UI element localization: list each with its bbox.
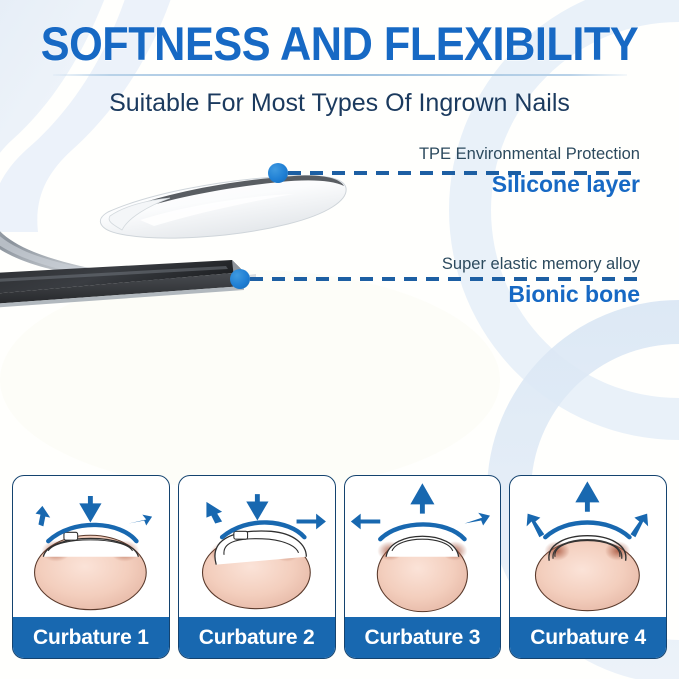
arrow-right-3 [464,513,489,526]
callout-silicone: TPE Environmental Protection Silicone la… [300,144,640,199]
curvature-panel-group: Curbature 1 [12,475,667,659]
callout-dot-bionic [230,269,250,289]
arrow-up-4 [580,486,596,511]
curvature-art-2 [179,476,335,617]
callout-bionic-top-label: Super elastic memory alloy [260,254,640,274]
curvature-label-3: Curbature 3 [345,617,501,658]
arrow-group-4 [527,486,648,537]
force-curve-4 [546,523,630,538]
arrow-up-left-4 [527,514,545,538]
curvature-label-1: Curbature 1 [13,617,169,658]
clip-hook-2 [234,531,248,539]
arrow-up-3 [414,488,430,513]
title-divider [53,74,627,76]
page-title: SOFTNESS AND FLEXIBILITY [27,18,652,70]
callout-bionic-bottom-label: Bionic bone [260,280,640,309]
curvature-panel-3[interactable]: Curbature 3 [344,475,502,659]
arrow-up-left-2 [206,502,222,524]
arrow-group-1 [36,496,153,526]
curvature-panel-4[interactable]: Curbature 4 [509,475,667,659]
callout-silicone-bottom-label: Silicone layer [300,170,640,199]
arrow-right-1 [129,515,153,526]
arrow-up-right-4 [631,514,649,538]
arrow-down-2 [250,494,264,516]
curvature-label-4: Curbature 4 [510,617,666,658]
callout-dot-silicone [268,163,288,183]
curvature-art-3 [345,476,501,617]
callout-silicone-top-label: TPE Environmental Protection [300,144,640,164]
curvature-art-4 [510,476,666,617]
arrow-right-2 [296,514,325,530]
arrow-up-left-1 [36,506,51,527]
infographic-page: SOFTNESS AND FLEXIBILITY Suitable For Mo… [0,0,679,679]
arrow-left-3 [350,514,379,530]
curvature-art-1 [13,476,169,617]
callout-bionic: Super elastic memory alloy Bionic bone [260,254,640,309]
curvature-panel-2[interactable]: Curbature 2 [178,475,336,659]
clip-hook-1 [64,532,78,540]
header: SOFTNESS AND FLEXIBILITY Suitable For Mo… [0,18,679,118]
curvature-label-2: Curbature 2 [179,617,335,658]
curvature-panel-1[interactable]: Curbature 1 [12,475,170,659]
arrow-down-1 [84,496,98,518]
